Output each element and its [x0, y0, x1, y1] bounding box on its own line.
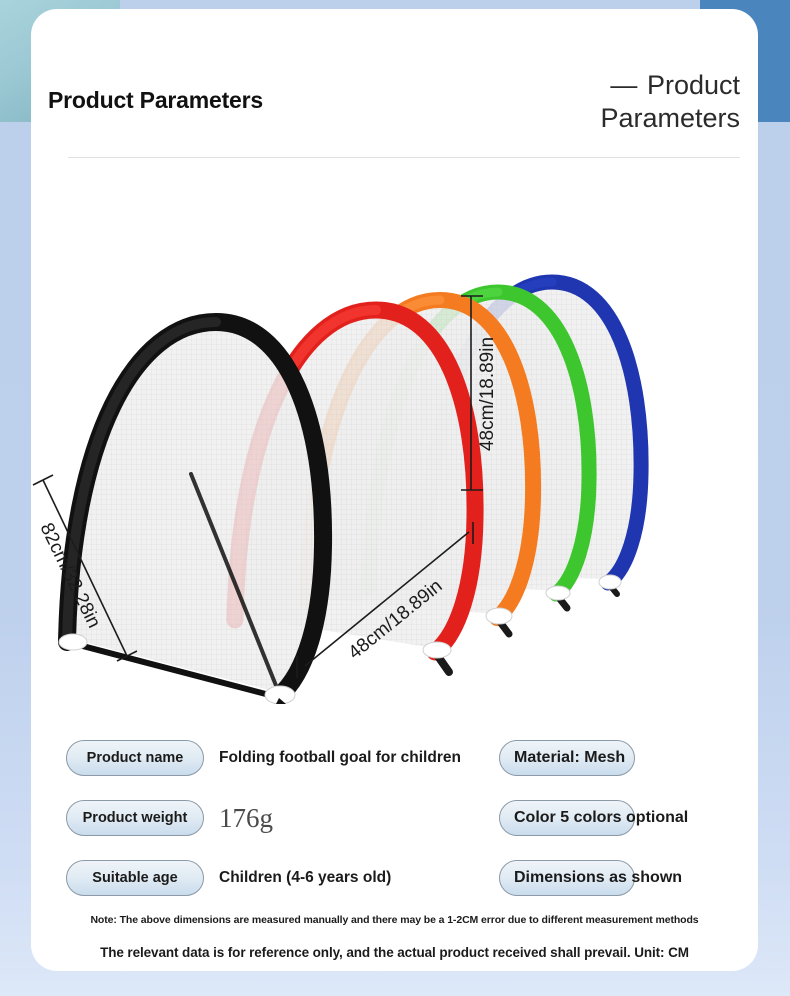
- spec-label-color: Color 5 colors optional: [514, 809, 688, 827]
- spec-label-suitable-age: Suitable age: [92, 870, 177, 886]
- subtitle-dash: —: [610, 70, 639, 100]
- footer-note-measurement: Note: The above dimensions are measured …: [31, 914, 758, 926]
- spec-pill-product-name: Product name: [66, 740, 204, 776]
- subtitle-line2: Parameters: [600, 103, 740, 133]
- spec-pill-material: Material: Mesh: [499, 740, 635, 776]
- spec-row-product-weight: Product weight 176g: [66, 791, 486, 851]
- footer-note-reference: The relevant data is for reference only,…: [31, 945, 758, 960]
- subtitle-line1: Product: [647, 70, 740, 100]
- dimension-height-label: 48cm/18.89in: [477, 337, 498, 451]
- spec-row-color: Color 5 colors optional: [499, 791, 758, 851]
- spec-column-left: Product name Folding football goal for c…: [66, 731, 486, 911]
- spec-label-material: Material: Mesh: [514, 749, 625, 767]
- spec-row-dimensions: Dimensions as shown: [499, 851, 758, 911]
- goal-black: [59, 322, 323, 704]
- product-parameters-page: Product Parameters — Product Parameters: [0, 0, 790, 996]
- spec-pill-product-weight: Product weight: [66, 800, 204, 836]
- spec-pill-color: Color 5 colors optional: [499, 800, 635, 836]
- product-illustration-svg: 48cm/18.89in 82cm/32.28in 48cm/18.89in: [31, 174, 758, 704]
- spec-column-right: Material: Mesh Color 5 colors optional D…: [499, 731, 758, 911]
- spec-pill-dimensions: Dimensions as shown: [499, 860, 635, 896]
- spec-label-product-name: Product name: [87, 750, 184, 766]
- spec-row-suitable-age: Suitable age Children (4-6 years old): [66, 851, 486, 911]
- page-title: Product Parameters: [48, 87, 263, 114]
- spec-value-product-weight: 176g: [219, 800, 273, 836]
- spec-row-material: Material: Mesh: [499, 731, 758, 791]
- footer-notes: Note: The above dimensions are measured …: [31, 914, 758, 960]
- spec-value-suitable-age: Children (4-6 years old): [219, 860, 391, 896]
- spec-label-dimensions: Dimensions as shown: [514, 869, 682, 887]
- spec-label-product-weight: Product weight: [83, 810, 188, 826]
- page-subtitle: — Product Parameters: [440, 69, 740, 135]
- page-header: Product Parameters — Product Parameters: [31, 9, 758, 159]
- spec-pill-suitable-age: Suitable age: [66, 860, 204, 896]
- content-card: Product Parameters — Product Parameters: [31, 9, 758, 971]
- spec-value-product-name: Folding football goal for children: [219, 740, 461, 776]
- product-image: 48cm/18.89in 82cm/32.28in 48cm/18.89in: [31, 174, 758, 704]
- header-divider: [68, 157, 740, 158]
- spec-row-product-name: Product name Folding football goal for c…: [66, 731, 486, 791]
